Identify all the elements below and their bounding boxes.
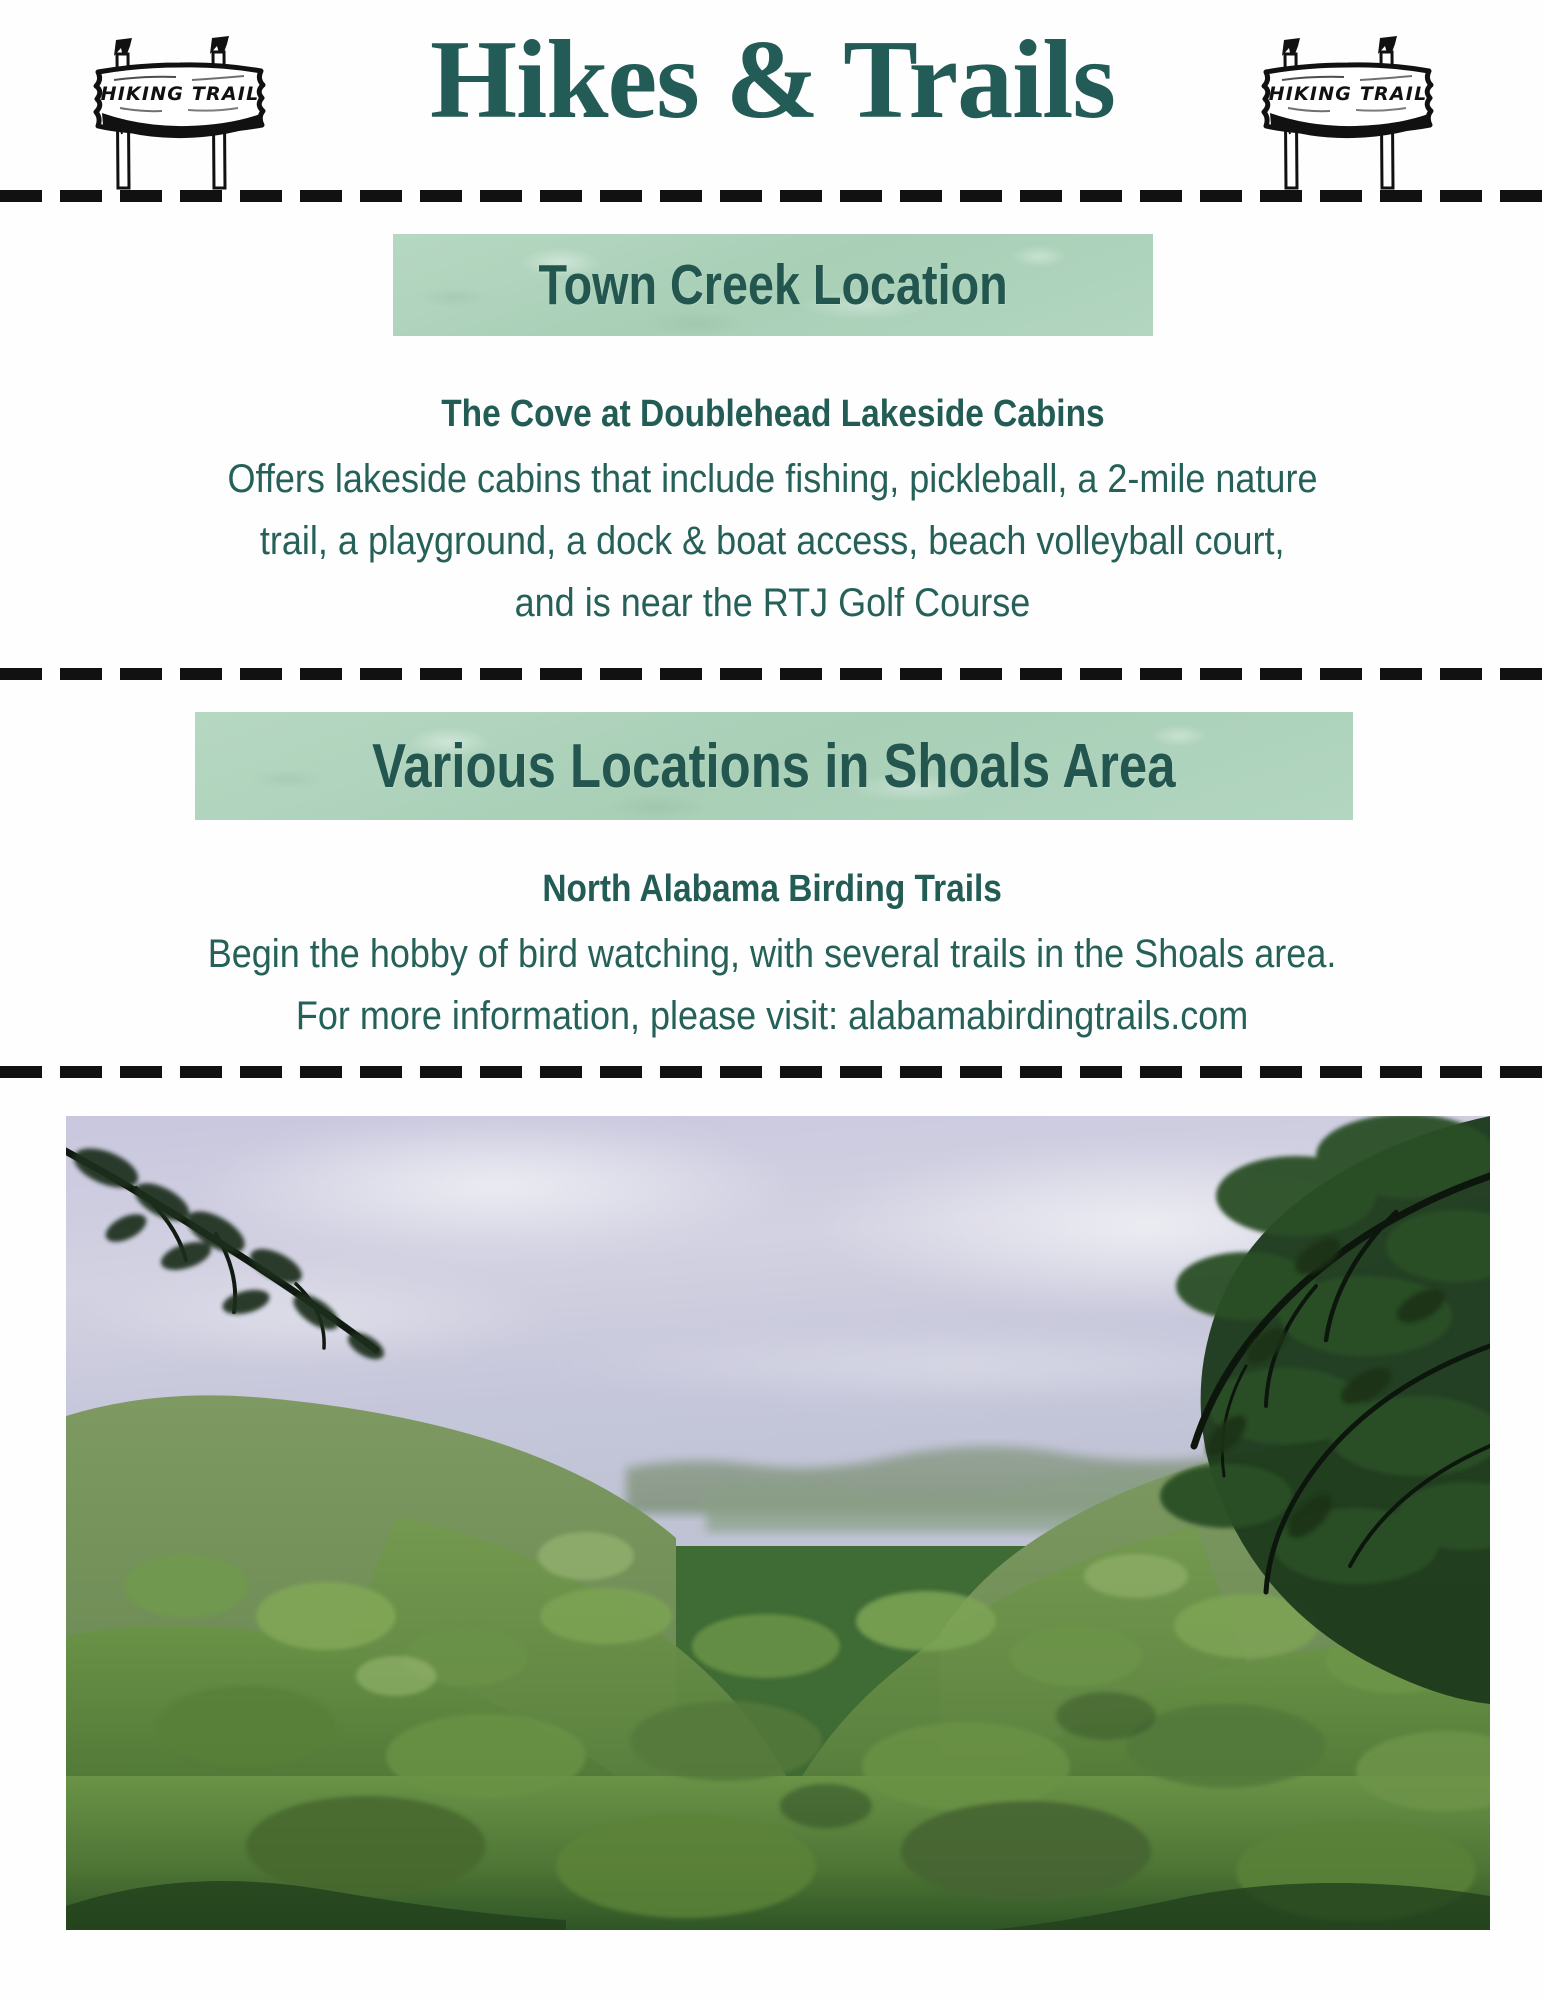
dashed-divider-2 (0, 668, 1545, 680)
forest-valley-photo (66, 1116, 1490, 1930)
page-header: HIKING TRAIL Hikes & Trails HIKING TRAIL (0, 0, 1545, 190)
section-heading-label: Various Locations in Shoals Area (372, 731, 1175, 802)
body-line: trail, a playground, a dock & boat acces… (0, 510, 1545, 572)
hiking-trail-sign-icon-right: HIKING TRAIL (1248, 18, 1448, 190)
section-heading-label: Town Creek Location (538, 252, 1007, 318)
hikes-and-trails-flyer: HIKING TRAIL Hikes & Trails HIKING TRAIL (0, 0, 1545, 2000)
dashed-divider-3 (0, 1066, 1545, 1078)
section-heading-bar-shoals-area: Various Locations in Shoals Area (195, 712, 1353, 820)
section-heading-bar-town-creek: Town Creek Location (393, 234, 1153, 336)
body-line: Offers lakeside cabins that include fish… (0, 448, 1545, 510)
subheading-north-alabama-birding-trails: North Alabama Birding Trails (0, 868, 1545, 911)
dashed-divider-1 (0, 190, 1545, 202)
body-text-town-creek: Offers lakeside cabins that include fish… (0, 448, 1545, 634)
body-line: For more information, please visit: alab… (0, 985, 1545, 1047)
body-line: Begin the hobby of bird watching, with s… (0, 923, 1545, 985)
body-line: and is near the RTJ Golf Course (0, 572, 1545, 634)
svg-text:HIKING TRAIL: HIKING TRAIL (1269, 83, 1428, 105)
body-text-shoals-area: Begin the hobby of bird watching, with s… (0, 923, 1545, 1047)
subheading-the-cove: The Cove at Doublehead Lakeside Cabins (0, 393, 1545, 436)
